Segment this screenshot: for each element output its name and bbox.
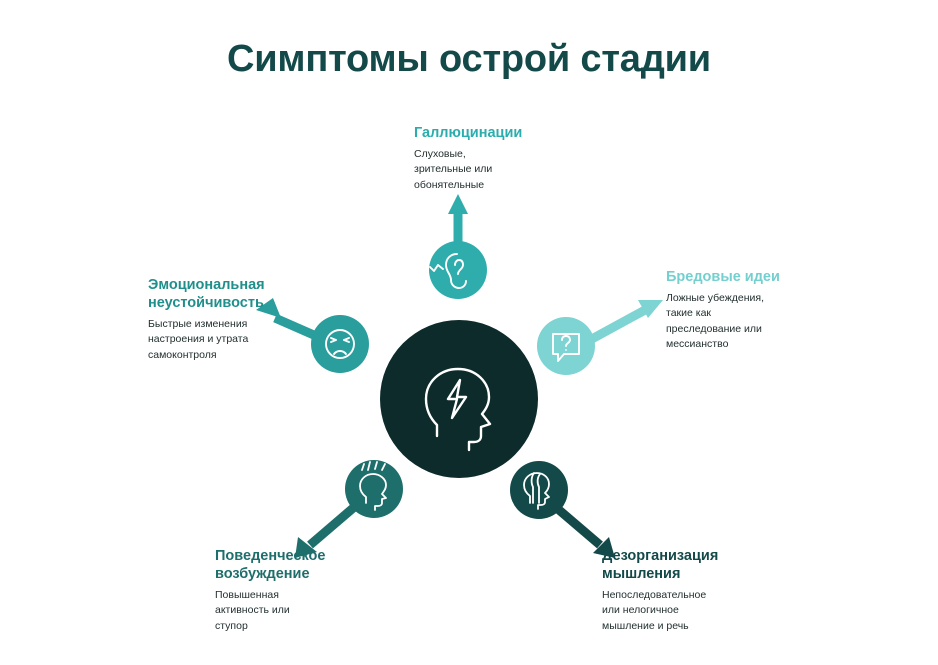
branch-body-disorganized: Непоследовательное или нелогичное мышлен… xyxy=(602,588,812,634)
branch-text-delusions: Бредовые идеи Ложные убеждения, такие ка… xyxy=(666,268,866,352)
branch-body-agitation: Повышенная активность или ступор xyxy=(215,588,415,634)
branch-heading-hallucinations: Галлюцинации xyxy=(414,124,624,142)
infographic-canvas: Симптомы острой стадии xyxy=(0,0,938,665)
branch-text-hallucinations: Галлюцинации Слуховые, зрительные или об… xyxy=(414,124,624,193)
branch-heading-disorganized: Дезорганизация мышления xyxy=(602,547,812,583)
branch-text-emotional: Эмоциональная неустойчивость Быстрые изм… xyxy=(148,276,348,363)
branch-heading-emotional: Эмоциональная неустойчивость xyxy=(148,276,348,312)
branch-body-emotional: Быстрые изменения настроения и утрата са… xyxy=(148,317,348,363)
branch-heading-delusions: Бредовые идеи xyxy=(666,268,866,286)
branch-heading-agitation: Поведенческое возбуждение xyxy=(215,547,415,583)
branch-text-agitation: Поведенческое возбуждение Повышенная акт… xyxy=(215,547,415,634)
branch-body-hallucinations: Слуховые, зрительные или обонятельные xyxy=(414,147,624,193)
branch-body-delusions: Ложные убеждения, такие как преследовани… xyxy=(666,291,866,352)
branch-node-disorganized[interactable] xyxy=(510,461,568,519)
branch-text-disorganized: Дезорганизация мышления Непоследовательн… xyxy=(602,547,812,634)
branch-node-hallucinations[interactable] xyxy=(429,241,487,299)
branch-node-agitation[interactable] xyxy=(345,460,403,518)
branch-node-delusions[interactable] xyxy=(537,317,595,375)
center-hub[interactable] xyxy=(380,320,538,478)
